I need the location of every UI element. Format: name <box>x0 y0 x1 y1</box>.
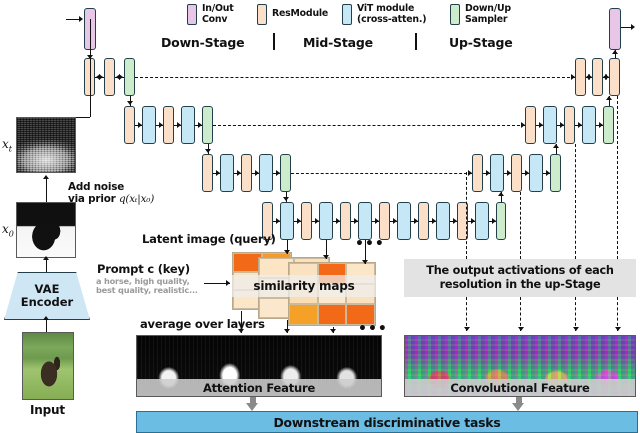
unet-block-vit <box>397 202 411 240</box>
stage-label-up: Up-Stage <box>449 35 513 50</box>
unet-block-vit <box>358 202 372 240</box>
xt-to-unet-line <box>90 19 91 117</box>
conv-drop-line-1 <box>575 144 576 259</box>
unet-block-vit <box>220 154 234 192</box>
conv-drop-line-0 <box>617 96 618 259</box>
unet-block-res <box>418 202 429 240</box>
sim-to-attn-arrow <box>284 329 290 333</box>
legend-label-sampler: Down/Up Sampler <box>465 4 511 25</box>
vae-to-x0-arrow <box>43 256 49 260</box>
unet-block-res <box>340 202 351 240</box>
conv-callout-box: The output activations of each resolutio… <box>404 259 636 297</box>
unet-block-res <box>575 58 586 96</box>
conv-swatch-icon <box>187 4 197 25</box>
unet-block-vit <box>582 106 596 144</box>
unet-arrow <box>116 74 120 80</box>
unet-block-vit <box>436 202 450 240</box>
conv-drop-line-2b <box>520 297 521 331</box>
add-noise-label: Add noise via prior q(xₜ|x₀) <box>68 181 154 205</box>
conv-feature-label: Convolutional Feature <box>450 381 589 395</box>
unet-block-res <box>163 106 174 144</box>
legend-item-vit: ViT module (cross-atten.) <box>342 4 426 25</box>
conv-drop-line-2 <box>520 192 521 259</box>
unet-arrow <box>276 170 280 176</box>
vit-swatch-icon <box>342 4 352 25</box>
unet-block-sampler <box>124 58 135 96</box>
legend-item-conv: In/Out Conv <box>187 4 234 25</box>
unet-block-sampler <box>550 154 561 192</box>
conv-drop-arrow-2 <box>518 327 524 331</box>
sampler-swatch-icon <box>450 4 460 25</box>
add-noise-arrow-line <box>46 177 47 202</box>
conv-feature-band: Convolutional Feature <box>405 379 635 396</box>
unet-block-sampler <box>280 154 291 192</box>
unet-arrow <box>237 170 241 176</box>
unet-arrow <box>159 122 163 128</box>
conv-drop-line-1b <box>575 297 576 331</box>
legend-label-res: ResModule <box>272 4 328 20</box>
attention-to-downstream-arrow <box>246 397 259 411</box>
legend-label-vit: ViT module (cross-atten.) <box>357 4 426 25</box>
prompt-text: a horse, high quality, best quality, rea… <box>96 277 198 296</box>
unet-block-res <box>241 154 252 192</box>
downstream-tasks-label: Downstream discriminative tasks <box>273 415 500 430</box>
legend-label-conv: In/Out Conv <box>202 4 234 25</box>
latent-query-label: Latent image (query) <box>142 233 276 245</box>
output-arrow-head <box>631 24 635 30</box>
conv-drop-arrow-1 <box>573 327 579 331</box>
unet-block-res <box>525 106 536 144</box>
skip-connection-level-2 <box>213 125 525 126</box>
conv-drop-arrow-3 <box>464 327 470 331</box>
unet-arrow <box>177 122 181 128</box>
stage-label-down: Down-Stage <box>161 35 244 50</box>
unet-block-res <box>124 106 135 144</box>
unet-upsample-arrow <box>606 96 612 100</box>
similarity-maps-label: similarity maps <box>253 279 354 293</box>
downstream-tasks-bar[interactable]: Downstream discriminative tasks <box>136 411 638 433</box>
vit-to-sim-arrow <box>362 260 368 264</box>
xt-label: xt <box>2 137 12 153</box>
similarity-ellipsis-top: ••• <box>355 240 385 248</box>
unet-downsample-arrow <box>127 101 133 105</box>
unet-block-vit <box>259 154 273 192</box>
res-swatch-icon <box>257 4 267 25</box>
sim-to-attn-arrow <box>238 329 244 333</box>
unet-upsample-arrow <box>498 192 504 196</box>
unet-block-res <box>104 58 115 96</box>
unet-out-conv <box>609 8 621 50</box>
unet-arrow <box>96 74 100 80</box>
average-over-layers-label: average over layers <box>140 318 265 330</box>
unet-block-sampler <box>603 106 614 144</box>
vit-to-sim-arrow <box>284 250 290 254</box>
unet-block-res <box>301 202 312 240</box>
attention-feature-band: Attention Feature <box>137 379 381 396</box>
unet-block-sampler <box>202 106 213 144</box>
unet-block-vit <box>529 154 543 192</box>
unet-block-vit <box>142 106 156 144</box>
noisy-latent-image <box>16 117 76 173</box>
unet-block-sampler <box>496 202 506 240</box>
diagram-root: In/Out Conv ResModule ViT module (cross-… <box>0 0 640 433</box>
arrow-line-to-in-conv <box>66 19 80 20</box>
unet-block-vit <box>280 202 294 240</box>
conv-drop-line-0b <box>617 297 618 331</box>
input-label: Input <box>30 404 65 416</box>
unet-block-res <box>379 202 390 240</box>
convolutional-feature-image: Convolutional Feature <box>404 335 636 397</box>
unet-block-res <box>511 154 522 192</box>
arrow-head-to-in-conv <box>79 16 83 22</box>
legend-item-sampler: Down/Up Sampler <box>450 4 511 25</box>
unet-arrow <box>138 122 142 128</box>
stage-divider-1 <box>273 33 275 50</box>
vit-to-sim-arrow <box>323 255 329 259</box>
x0-label: x0 <box>2 222 14 238</box>
conv-to-downstream-arrow <box>512 397 525 411</box>
unet-downsample-arrow <box>205 149 211 153</box>
similarity-maps-overlay: similarity maps <box>232 275 376 297</box>
unet-block-res <box>202 154 213 192</box>
unet-block-vit <box>490 154 504 192</box>
input-image <box>22 332 74 400</box>
unet-block-res <box>564 106 575 144</box>
unet-upsample-arrow <box>553 144 559 148</box>
unet-downsample-arrow <box>283 197 289 201</box>
conv-drop-line-3b <box>466 297 467 331</box>
prompt-key-label: Prompt c (key) <box>97 263 190 275</box>
conv-drop-line-3 <box>466 172 467 259</box>
unet-arrow <box>198 122 202 128</box>
vae-to-x0-line <box>46 258 47 272</box>
unet-block-res <box>472 154 483 192</box>
unet-block-vit <box>181 106 195 144</box>
unet-arrow <box>255 170 259 176</box>
xt-to-unet-line-h <box>76 117 90 118</box>
legend-item-res: ResModule <box>257 4 328 25</box>
prompt-arrow-head <box>226 280 230 286</box>
input-to-vae-line <box>46 318 47 332</box>
conv-callout-label: The output activations of each resolutio… <box>404 264 636 292</box>
unet-block-vit <box>543 106 557 144</box>
unet-block-res <box>592 58 603 96</box>
stage-label-mid: Mid-Stage <box>303 35 373 50</box>
arrow-head-out-conv <box>612 50 618 54</box>
unet-block-res <box>609 58 620 96</box>
input-to-vae-arrow <box>43 316 49 320</box>
add-noise-arrow-head <box>43 175 49 179</box>
skip-connection-level-3 <box>291 173 472 174</box>
unet-arrow <box>216 170 220 176</box>
unet-block-vit <box>319 202 333 240</box>
vae-encoder-label: VAE Encoder <box>21 283 73 309</box>
attention-feature-label: Attention Feature <box>203 381 315 395</box>
stage-divider-2 <box>415 33 417 50</box>
vae-encoder: VAE Encoder <box>4 272 90 320</box>
attention-feature-image: Attention Feature <box>136 335 382 397</box>
conv-drop-arrow-0 <box>615 327 621 331</box>
sim-to-attn-arrow <box>330 329 336 333</box>
similarity-ellipsis-bottom: ••• <box>358 325 388 333</box>
skip-connection-level-1 <box>135 77 575 78</box>
unet-block-vit <box>475 202 489 240</box>
clean-image <box>16 202 76 258</box>
